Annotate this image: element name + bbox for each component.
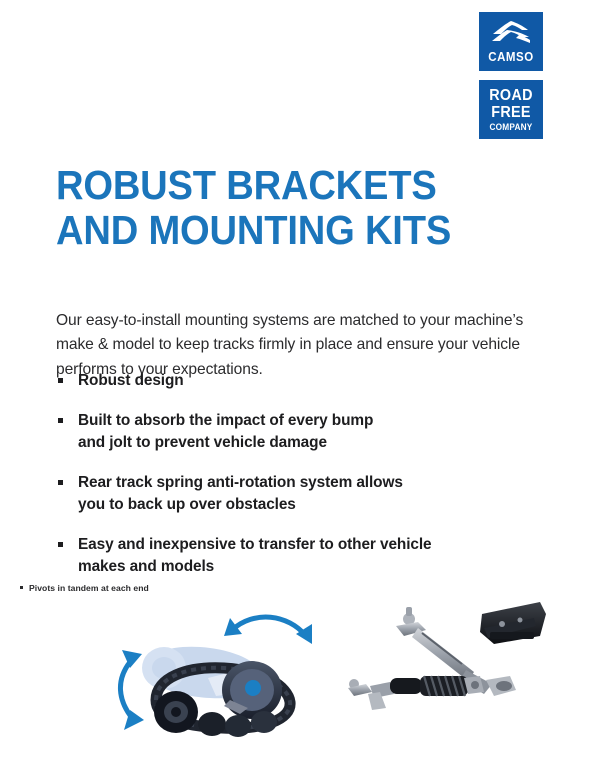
camso-swoosh-icon: [491, 21, 531, 44]
list-item: Rear track spring anti-rotation system a…: [56, 472, 516, 517]
road-free-line-3: COMPANY: [482, 122, 541, 132]
hardware-parts-graphic: [334, 596, 546, 716]
square-bullet-icon: [58, 378, 63, 383]
list-item: Easy and inexpensive to transfer to othe…: [56, 534, 516, 579]
bullet-line: makes and models: [78, 556, 516, 579]
list-item: Built to absorb the impact of every bump…: [56, 410, 516, 455]
bullet-line: and jolt to prevent vehicle damage: [78, 432, 516, 455]
square-bullet-icon: [58, 542, 63, 547]
track-system-graphic: [112, 604, 328, 744]
page-title: ROBUST BRACKETS AND MOUNTING KITS: [56, 163, 465, 253]
square-bullet-icon: [58, 418, 63, 423]
feature-bullet-list: Robust design Built to absorb the impact…: [56, 370, 516, 579]
list-item: Robust design: [56, 370, 516, 393]
brand-logo-stack: CAMSO ROAD FREE COMPANY: [479, 12, 543, 139]
pivot-arrow-left: [120, 662, 132, 718]
mounting-bracket: [480, 602, 546, 644]
bullet-line: Rear track spring anti-rotation system a…: [78, 472, 516, 495]
drive-sprocket: [222, 661, 282, 719]
mounting-hardware-photo: [334, 596, 546, 716]
road-free-line-1: ROAD: [482, 87, 540, 105]
bullet-line: Easy and inexpensive to transfer to othe…: [78, 534, 516, 557]
bullet-line: you to back up over obstacles: [78, 494, 516, 517]
footnote: Pivots in tandem at each end: [20, 582, 149, 594]
idler-wheel: [154, 691, 198, 733]
footnote-text: Pivots in tandem at each end: [29, 583, 149, 593]
camso-logo-badge: CAMSO: [479, 12, 543, 71]
pivot-arrow-top: [232, 617, 306, 636]
road-free-company-badge: ROAD FREE COMPANY: [479, 80, 543, 139]
road-free-line-2: FREE: [482, 104, 540, 122]
camso-wordmark: CAMSO: [482, 50, 541, 64]
square-bullet-icon: [20, 586, 23, 589]
square-bullet-icon: [58, 480, 63, 485]
page-title-line-2: AND MOUNTING KITS: [56, 208, 465, 253]
rubber-track-system-illustration: [112, 604, 328, 744]
page-title-line-1: ROBUST BRACKETS: [56, 163, 465, 208]
spring-damper-assembly: [348, 676, 484, 710]
bullet-line: Built to absorb the impact of every bump: [78, 410, 516, 433]
bullet-line: Robust design: [78, 370, 516, 393]
coil-spring: [420, 676, 468, 696]
